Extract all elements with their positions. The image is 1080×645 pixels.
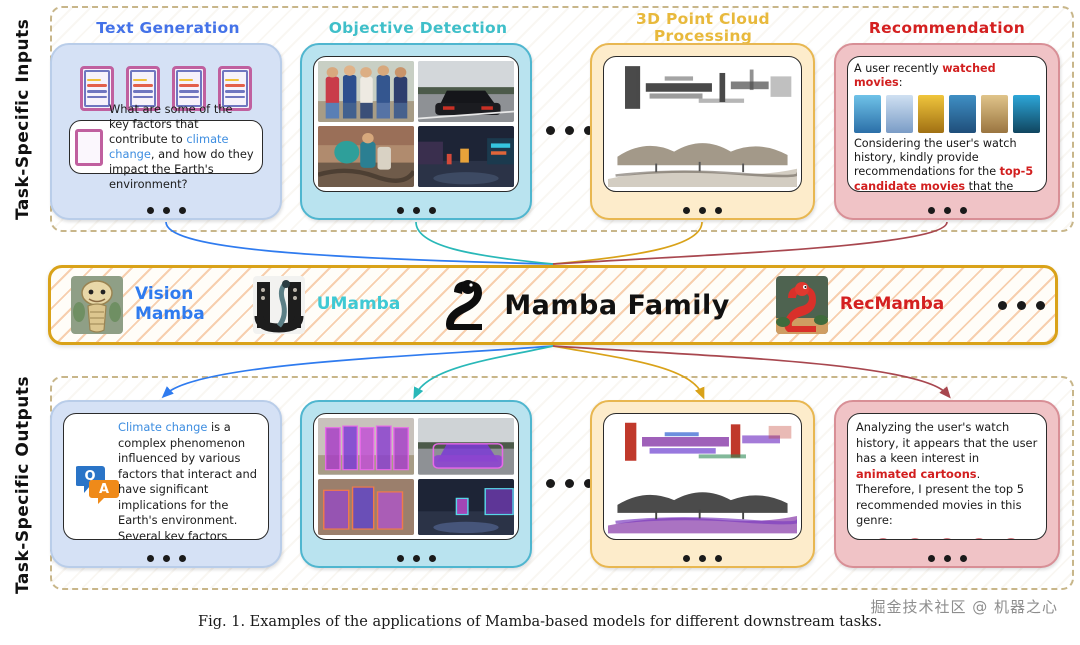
figure-root: Task-Specific Inputs Task-Specific Outpu… [0,0,1080,645]
model-name-umamba: UMamba [317,295,401,315]
segmented-photo-grid [318,418,514,535]
prompt-text: What are some of the key factors that co… [109,102,255,192]
selected-number[interactable]: 2 [875,538,891,541]
column-title-text-generation: Text Generation [48,20,288,37]
more-dots [52,207,280,214]
recommendation-input-body: A user recently watched movies: Consider… [847,56,1047,192]
u-snake-logo-icon [253,276,305,334]
body-part1: Considering the user's watch history, ki… [854,137,1017,179]
mamba-family-title: Mamba Family [504,290,730,321]
movie-poster [949,95,976,133]
vision-mamba-line1: Vision [135,284,193,304]
selected-number[interactable]: 4 [907,538,923,541]
mamba-band-ellipsis [998,301,1045,310]
photo-night-street [418,126,514,187]
movie-poster [981,95,1008,133]
task-specific-outputs-label: Task-Specific Outputs [0,380,46,590]
qa-bubble-icon: Q A [76,462,120,506]
more-dots [836,207,1058,214]
point-cloud-output-images [603,413,802,540]
photo-grid [318,61,514,187]
photo-car [418,61,514,122]
mamba-family-band: Vision Mamba UMamba [48,265,1058,345]
more-dots [836,555,1058,562]
segmented-terrain-scan [608,478,797,535]
input-card-point-cloud[interactable] [590,43,815,220]
point-cloud-input-images [603,56,802,192]
input-card-text-generation[interactable]: What are some of the key factors that co… [50,43,282,220]
output-card-point-cloud[interactable] [590,400,815,568]
selected-number[interactable]: 8 [1003,538,1019,541]
column-title-point-cloud: 3D Point Cloud Processing [588,11,818,46]
mamba-family-title-group: Mamba Family [442,276,730,334]
qa-a-letter: A [99,482,109,497]
more-dots [302,555,530,562]
point-cloud-title-line1: 3D Point Cloud [636,10,770,28]
figure-caption: Fig. 1. Examples of the applications of … [0,614,1080,630]
input-card-recommendation[interactable]: A user recently watched movies: Consider… [834,43,1060,220]
objective-detection-output-images [313,413,519,540]
movie-poster [1013,95,1040,133]
more-dots [592,555,813,562]
movie-poster [854,95,881,133]
model-umamba[interactable]: UMamba [253,276,401,334]
text-generation-output-body: Climate change is a complex phenomenon i… [63,413,269,540]
column-title-objective-detection: Objective Detection [298,20,538,37]
headline-part2: : [899,76,903,89]
photo-workers [318,126,414,187]
segmented-workers [318,479,414,536]
inputs-ellipsis [546,126,593,135]
pointcloud-outdoor-terrain [608,126,797,188]
cobra-head-logo-icon [71,276,123,334]
recommendation-output-body: Analyzing the user's watch history, it a… [847,413,1047,540]
movie-poster [886,95,913,133]
selected-number[interactable]: 7 [971,538,987,541]
output-body: is a complex phenomenon influenced by va… [118,420,257,540]
segmented-point-cloud-grid [608,418,797,535]
recommendation-output-text: Analyzing the user's watch history, it a… [856,420,1038,533]
headline-part1: A user recently [854,62,942,75]
output-card-recommendation[interactable]: Analyzing the user's watch history, it a… [834,400,1060,568]
more-dots [302,207,530,214]
rec-out-part1: Analyzing the user's watch history, it a… [856,420,1037,465]
prompt-box: What are some of the key factors that co… [69,120,263,174]
model-name-recmamba: RecMamba [840,295,944,315]
more-dots [52,555,280,562]
model-recmamba[interactable]: RecMamba [776,276,944,334]
black-snake-icon [442,276,492,334]
recommendation-body: Considering the user's watch history, ki… [854,137,1040,192]
outputs-ellipsis [546,479,593,488]
input-card-objective-detection[interactable] [300,43,532,220]
model-vision-mamba[interactable]: Vision Mamba [71,276,205,334]
output-card-objective-detection[interactable] [300,400,532,568]
selected-number-row: 2 4 5 7 8 [856,536,1038,541]
segmented-lidar-scan [608,418,797,475]
more-dots [592,207,813,214]
segmented-people [318,418,414,475]
segmented-car [418,418,514,475]
output-card-text-generation[interactable]: Climate change is a complex phenomenon i… [50,400,282,568]
column-title-recommendation: Recommendation [832,20,1062,37]
point-cloud-grid [608,61,797,187]
pointcloud-indoor-scan [608,61,797,123]
text-generation-input-body: What are some of the key factors that co… [63,56,269,192]
model-name-vision-mamba: Vision Mamba [135,285,205,324]
selected-number[interactable]: 5 [939,538,955,541]
task-specific-inputs-label: Task-Specific Inputs [0,8,46,230]
red-snake-logo-icon [776,276,828,334]
watched-movie-posters [854,94,1040,134]
recommendation-headline: A user recently watched movies: [854,62,1040,91]
vision-mamba-line2: Mamba [135,304,205,324]
objective-detection-input-images [313,56,519,192]
rec-out-highlight: animated cartoons [856,467,977,481]
movie-poster [918,95,945,133]
segmented-street [418,479,514,536]
document-icon [75,129,103,166]
output-highlight: Climate change [118,420,207,434]
photo-people [318,61,414,122]
